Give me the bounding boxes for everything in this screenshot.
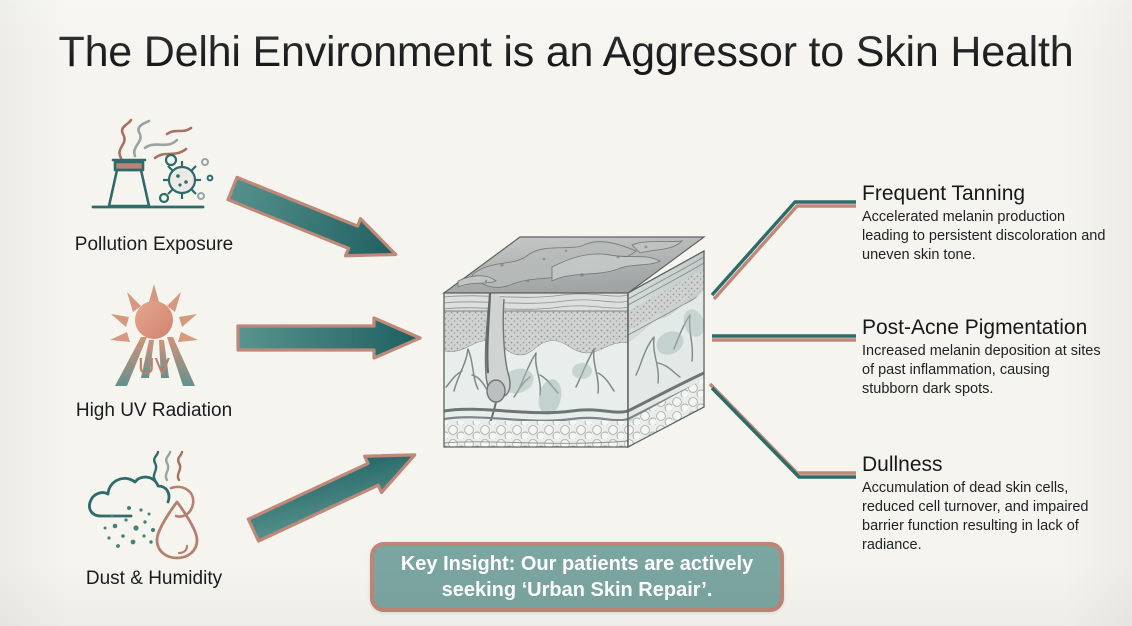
stressor-label: High UV Radiation	[48, 400, 260, 422]
effect-frequent-tanning: Frequent Tanning Accelerated melanin pro…	[862, 182, 1110, 265]
effect-dullness: Dullness Accumulation of dead skin cells…	[862, 453, 1110, 556]
cloud-dust-water-droplet-icon	[48, 450, 260, 562]
key-insight-callout: Key Insight: Our patients are actively s…	[370, 542, 784, 612]
effect-description: Increased melanin deposition at sites of…	[862, 342, 1110, 399]
stressor-pollution-exposure: Pollution Exposure	[48, 116, 260, 256]
uv-label: UV	[138, 353, 171, 379]
infographic-canvas: The Delhi Environment is an Aggressor to…	[0, 0, 1132, 626]
effect-title: Post-Acne Pigmentation	[862, 316, 1110, 339]
connector-frequent-tanning	[712, 202, 856, 299]
stressor-dust-humidity: Dust & Humidity	[48, 450, 260, 590]
skin-cross-section-diagram	[432, 215, 722, 470]
factory-smokestack-pollution-icon	[48, 116, 260, 228]
stressor-label: Pollution Exposure	[48, 234, 260, 256]
effect-post-acne-pigmentation: Post-Acne Pigmentation Increased melanin…	[862, 316, 1110, 399]
connector-dullness	[710, 384, 856, 477]
effect-description: Accumulation of dead skin cells, reduced…	[862, 479, 1110, 556]
connector-post-acne-pigmentation	[712, 336, 856, 340]
effect-title: Dullness	[862, 453, 1110, 476]
effect-description: Accelerated melanin production leading t…	[862, 208, 1110, 265]
sun-uv-rays-icon: UV	[48, 282, 260, 394]
stressor-label: Dust & Humidity	[48, 568, 260, 590]
stressor-high-uv-radiation: UV High UV Radiation	[48, 282, 260, 422]
effect-title: Frequent Tanning	[862, 182, 1110, 205]
